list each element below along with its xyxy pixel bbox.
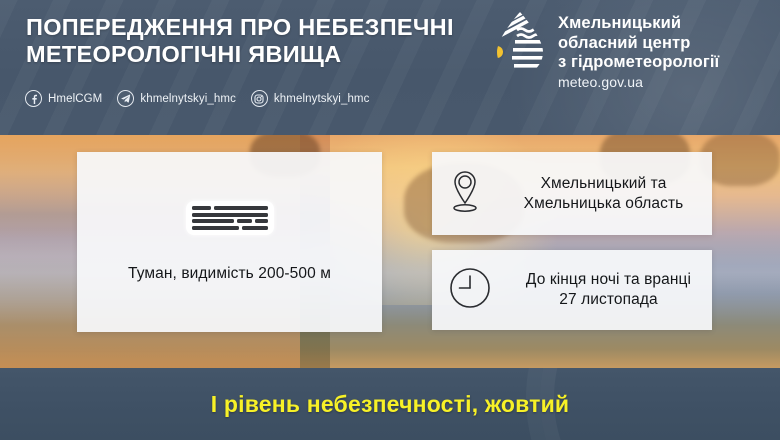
- time-text: До кінця ночі та вранці 27 листопада: [505, 270, 712, 310]
- organization-logo: Хмельницький обласний центр з гідрометео…: [493, 10, 780, 92]
- page-title: ПОПЕРЕДЖЕННЯ ПРО НЕБЕЗПЕЧНІ МЕТЕОРОЛОГІЧ…: [26, 14, 496, 67]
- fog-bar: [242, 226, 268, 230]
- instagram-handle: khmelnytskyi_hmc: [274, 93, 370, 105]
- header: ПОПЕРЕДЖЕННЯ ПРО НЕБЕЗПЕЧНІ МЕТЕОРОЛОГІЧ…: [0, 0, 780, 135]
- fog-bar: [192, 213, 268, 217]
- fog-icon-row: [192, 226, 268, 230]
- hazard-description: Туман, видимість 200-500 м: [128, 265, 331, 283]
- org-name-line-3: з гідрометеорології: [558, 53, 719, 71]
- instagram-icon: [251, 90, 268, 107]
- fog-bar: [214, 206, 267, 210]
- danger-level-banner: I рівень небезпечності, жовтий: [0, 368, 780, 440]
- map-pin-icon: [448, 168, 482, 219]
- organization-name: Хмельницький обласний центр з гідрометео…: [558, 10, 780, 92]
- fog-icon-row: [192, 206, 268, 210]
- fog-bar: [192, 226, 239, 230]
- clock-icon: [448, 266, 492, 315]
- hazard-card: Туман, видимість 200-500 м: [77, 152, 382, 332]
- social-links: HmelCGM khmelnytskyi_hmc: [25, 90, 369, 107]
- page-title-line-2: МЕТЕОРОЛОГІЧНІ ЯВИЩА: [26, 41, 496, 68]
- social-link-telegram[interactable]: khmelnytskyi_hmc: [117, 90, 236, 107]
- org-name-line-1: Хмельницький: [558, 14, 681, 32]
- fog-bar: [192, 206, 212, 210]
- location-text: Хмельницький та Хмельницька область: [495, 174, 712, 214]
- social-link-instagram[interactable]: khmelnytskyi_hmc: [251, 90, 370, 107]
- social-link-facebook[interactable]: HmelCGM: [25, 90, 102, 107]
- time-line-2: 27 листопада: [559, 291, 657, 308]
- danger-level-text: I рівень небезпечності, жовтий: [211, 391, 570, 418]
- time-line-1: До кінця ночі та вранці: [526, 271, 691, 288]
- time-card: До кінця ночі та вранці 27 листопада: [432, 250, 712, 330]
- facebook-handle: HmelCGM: [48, 93, 102, 105]
- photo-tree-silhouette: [700, 135, 780, 186]
- fog-icon: [186, 201, 274, 235]
- location-line-2: Хмельницька область: [524, 195, 684, 212]
- fog-icon-row: [192, 213, 268, 217]
- weather-warning-infographic: ПОПЕРЕДЖЕННЯ ПРО НЕБЕЗПЕЧНІ МЕТЕОРОЛОГІЧ…: [0, 0, 780, 440]
- fog-bar: [255, 219, 267, 223]
- org-name-line-2: обласний центр: [558, 34, 690, 52]
- org-website[interactable]: meteo.gov.ua: [558, 74, 643, 90]
- facebook-icon: [25, 90, 42, 107]
- fog-icon-row: [192, 219, 268, 223]
- fog-bar: [237, 219, 252, 223]
- telegram-handle: khmelnytskyi_hmc: [140, 93, 236, 105]
- fog-bar: [192, 219, 235, 223]
- location-line-1: Хмельницький та: [541, 175, 667, 192]
- banner-arc-decoration: [540, 368, 780, 440]
- water-drop-logo-icon: [493, 10, 547, 80]
- location-card: Хмельницький та Хмельницька область: [432, 152, 712, 235]
- telegram-icon: [117, 90, 134, 107]
- page-title-line-1: ПОПЕРЕДЖЕННЯ ПРО НЕБЕЗПЕЧНІ: [26, 14, 496, 41]
